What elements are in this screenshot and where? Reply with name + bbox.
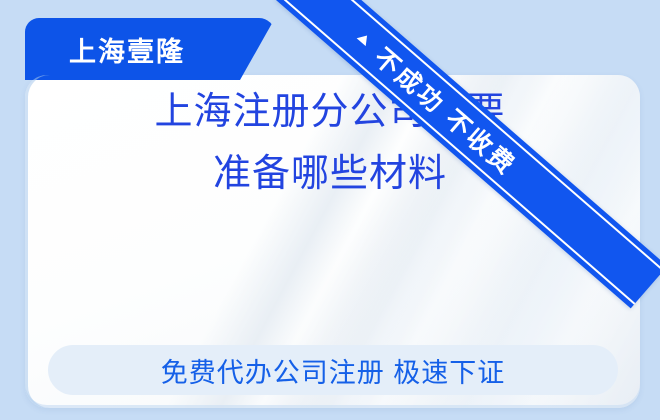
triangle-up-icon xyxy=(357,32,372,47)
page-title-line-1: 上海注册分公司需要 xyxy=(0,82,660,144)
slogan-bar[interactable]: 免费代办公司注册 极速下证 xyxy=(48,345,618,395)
promo-poster: 上海壹隆 上海注册分公司需要 准备哪些材料 免费代办公司注册 极速下证 不成功 … xyxy=(0,0,660,420)
brand-tab[interactable]: 上海壹隆 xyxy=(25,18,275,80)
slogan-text: 免费代办公司注册 极速下证 xyxy=(161,351,506,390)
brand-tab-label: 上海壹隆 xyxy=(69,18,185,80)
